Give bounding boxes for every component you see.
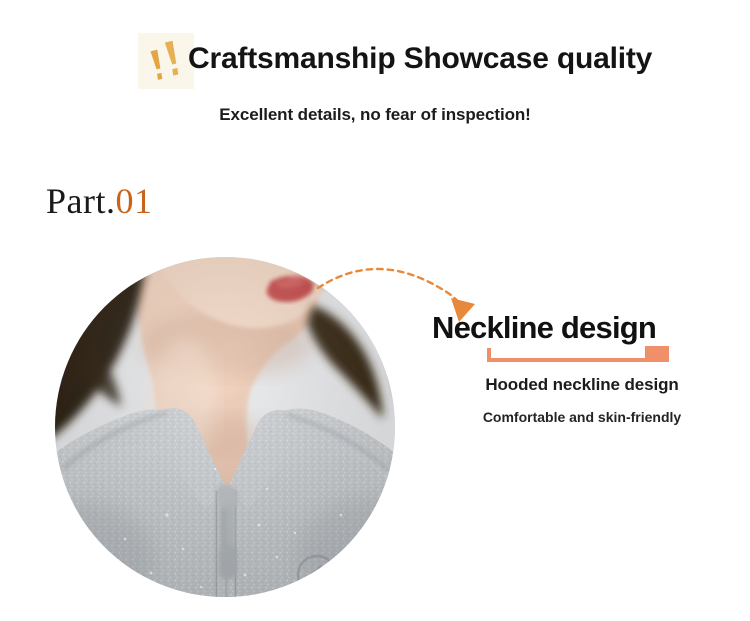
callout-line-2: Comfortable and skin-friendly <box>432 409 732 425</box>
page-subtitle: Excellent details, no fear of inspection… <box>0 105 750 125</box>
product-detail-page: Craftsmanship Showcase quality Excellent… <box>0 0 750 621</box>
bracket-underline-icon <box>487 346 669 364</box>
callout-line-1: Hooded neckline design <box>432 375 732 395</box>
part-label-prefix: Part. <box>46 181 116 221</box>
page-title: Craftsmanship Showcase quality <box>188 44 652 78</box>
product-photo-image <box>55 257 395 597</box>
part-label: Part.01 <box>46 183 153 219</box>
part-label-number: 01 <box>116 181 153 221</box>
header-row: Craftsmanship Showcase quality <box>138 33 652 89</box>
double-exclamation-icon <box>138 33 194 89</box>
callout-block: Neckline design Hooded neckline design C… <box>432 312 732 425</box>
product-photo-circle <box>55 257 395 597</box>
callout-title: Neckline design <box>432 312 732 345</box>
